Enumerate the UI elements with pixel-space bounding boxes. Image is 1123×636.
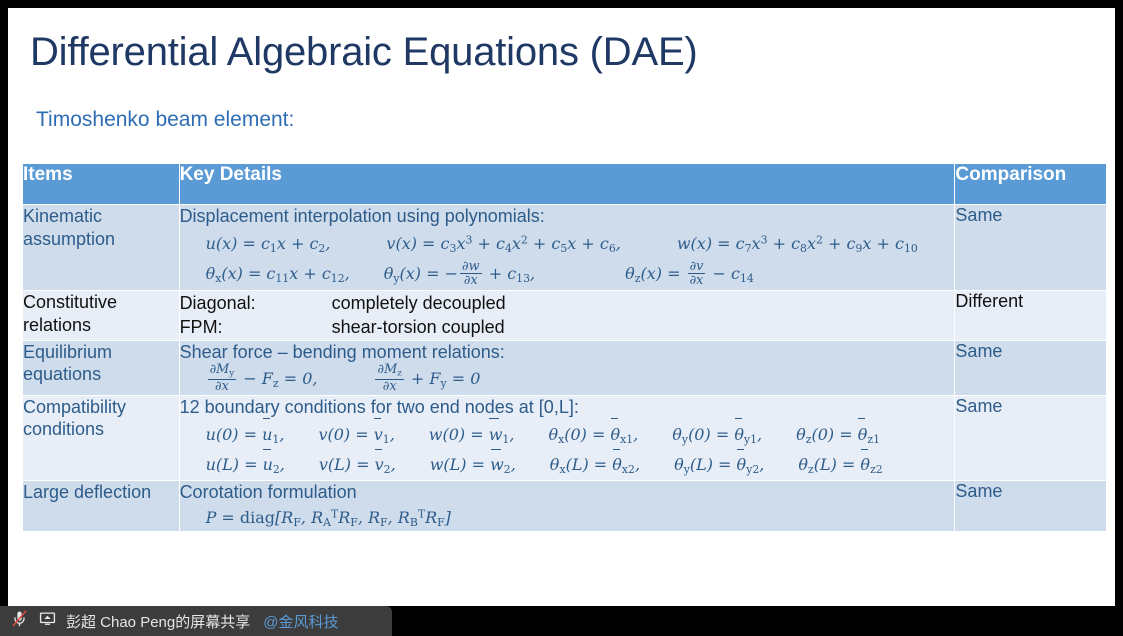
table-header-row: Items Key Details Comparison (23, 164, 1106, 204)
compatibility-line-2: u(L) = u2,v(L) = v2,w(L) = w2,θx(L) = θx… (206, 450, 955, 481)
screen-share-icon[interactable] (38, 609, 57, 633)
table-row-constitutive: Constitutive relations Diagonal:complete… (23, 291, 1106, 340)
kinematic-line-1: u(x) = c1x + c2,v(x) = c3x3 + c4x2 + c5x… (206, 228, 955, 259)
row-comparison: Same (955, 396, 1106, 481)
row-key-details: Displacement interpolation using polynom… (180, 205, 955, 290)
row-item-label: Equilibrium equations (23, 341, 179, 395)
share-org-text: @金风科技 (263, 611, 338, 632)
compatibility-line-1: u(0) = u1,v(0) = v1,w(0) = w1,θx(0) = θx… (206, 419, 955, 450)
table-row-large-deflection: Large deflection Corotation formulation … (23, 481, 1106, 531)
table-row-equilibrium: Equilibrium equations Shear force – bend… (23, 341, 1106, 395)
table-row-compatibility: Compatibility conditions 12 boundary con… (23, 396, 1106, 481)
column-header-comparison: Comparison (955, 164, 1106, 204)
equilibrium-line-1: ∂My∂x − Fz = 0,∂Mz∂x + Fy = 0 (206, 364, 955, 395)
row-comparison: Same (955, 341, 1106, 395)
microphone-muted-icon[interactable] (10, 609, 29, 633)
row-comparison: Same (955, 205, 1106, 290)
table-header: Items Key Details Comparison (23, 164, 1106, 204)
constitutive-label-fpm: FPM: (180, 315, 332, 339)
key-heading: Shear force – bending moment relations: (180, 341, 955, 364)
row-key-details: 12 boundary conditions for two end nodes… (180, 396, 955, 481)
table-body: Kinematic assumption Displacement interp… (23, 205, 1106, 531)
slide-canvas: Differential Algebraic Equations (DAE) T… (8, 8, 1115, 606)
key-heading: Corotation formulation (180, 481, 955, 504)
row-key-details: Corotation formulation P = diag[RF, RATR… (180, 481, 955, 531)
page-title: Differential Algebraic Equations (DAE) (30, 30, 698, 75)
column-header-items: Items (23, 164, 179, 204)
key-heading: 12 boundary conditions for two end nodes… (180, 396, 955, 419)
constitutive-value-fpm: shear-torsion coupled (332, 317, 505, 337)
row-comparison: Same (955, 481, 1106, 531)
constitutive-value-diagonal: completely decoupled (332, 293, 506, 313)
row-key-details: Diagonal:completely decoupled FPM:shear-… (180, 291, 955, 340)
row-comparison: Different (955, 291, 1106, 340)
slide-subtitle: Timoshenko beam element: (36, 108, 294, 132)
constitutive-label-diagonal: Diagonal: (180, 291, 332, 315)
large-deflection-line-1: P = diag[RF, RATRF, RF, RBTRF] (206, 505, 955, 532)
row-item-label: Kinematic assumption (23, 205, 179, 290)
row-item-label: Constitutive relations (23, 291, 179, 340)
column-header-key-details: Key Details (180, 164, 955, 204)
row-key-details: Shear force – bending moment relations: … (180, 341, 955, 395)
dae-comparison-table: Items Key Details Comparison Kinematic a… (22, 163, 1107, 532)
compatibility-equations: u(0) = u1,v(0) = v1,w(0) = w1,θx(0) = θx… (180, 419, 955, 480)
row-item-label: Large deflection (23, 481, 179, 531)
kinematic-line-2: θx(x) = c11x + c12,θy(x) = −∂w∂x + c13,θ… (206, 259, 955, 290)
kinematic-equations: u(x) = c1x + c2,v(x) = c3x3 + c4x2 + c5x… (180, 228, 955, 290)
share-owner-text: 彭超 Chao Peng的屏幕共享 (66, 611, 250, 632)
large-deflection-equation: P = diag[RF, RATRF, RF, RBTRF] (180, 505, 955, 532)
table-row-kinematic: Kinematic assumption Displacement interp… (23, 205, 1106, 290)
row-item-label: Compatibility conditions (23, 396, 179, 481)
screen-share-status-bar[interactable]: 彭超 Chao Peng的屏幕共享 @金风科技 (0, 606, 392, 636)
key-heading: Displacement interpolation using polynom… (180, 205, 955, 228)
equilibrium-equations: ∂My∂x − Fz = 0,∂Mz∂x + Fy = 0 (180, 364, 955, 395)
